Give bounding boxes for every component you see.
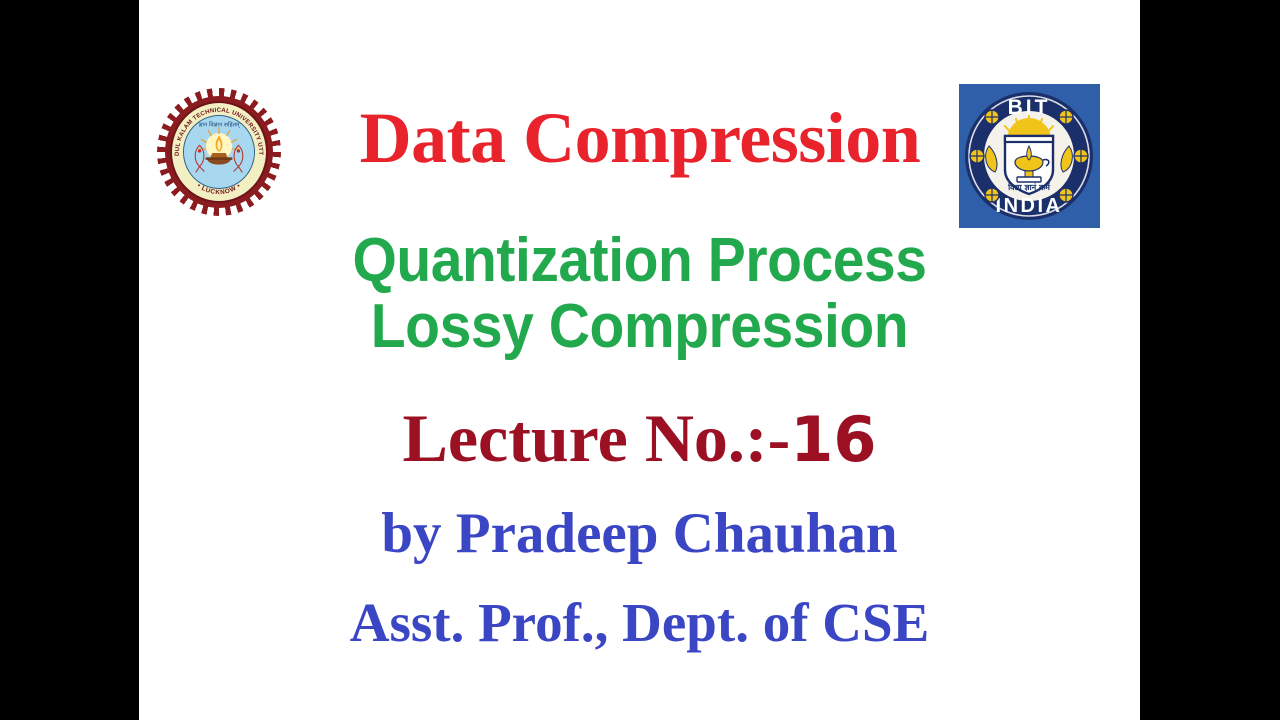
svg-text:INDIA: INDIA bbox=[996, 195, 1063, 217]
author-designation: Asst. Prof., Dept. of CSE bbox=[139, 595, 1140, 650]
bit-india-logo: BIT INDIA bbox=[959, 84, 1100, 228]
slide-course-title: Data Compression bbox=[275, 102, 1005, 174]
subtitle-line-1: Quantization Process bbox=[179, 228, 1100, 294]
svg-text:विद्या ज्ञानं कर्म: विद्या ज्ञानं कर्म bbox=[1007, 182, 1051, 192]
video-frame: DR. A.P.J. ABDUL KALAM TECHNICAL UNIVERS… bbox=[0, 0, 1280, 720]
aktu-emblem-lamp-icon: ज्ञान विज्ञान सहितम् bbox=[183, 115, 255, 189]
aktu-university-logo: DR. A.P.J. ABDUL KALAM TECHNICAL UNIVERS… bbox=[153, 78, 285, 226]
letterbox-bar-left bbox=[0, 0, 139, 720]
lecture-label: Lecture No.:- bbox=[403, 400, 791, 476]
lecture-number-line: Lecture No.:-16 bbox=[139, 404, 1140, 472]
author-name: by Pradeep Chauhan bbox=[139, 505, 1140, 562]
letterbox-bar-right bbox=[1140, 0, 1280, 720]
presentation-slide: DR. A.P.J. ABDUL KALAM TECHNICAL UNIVERS… bbox=[139, 0, 1140, 720]
lecture-number-value: 16 bbox=[790, 403, 876, 476]
slide-subtitle: Quantization Process Lossy Compression bbox=[139, 228, 1140, 361]
slide-header: DR. A.P.J. ABDUL KALAM TECHNICAL UNIVERS… bbox=[139, 72, 1140, 232]
subtitle-line-2: Lossy Compression bbox=[179, 294, 1100, 360]
